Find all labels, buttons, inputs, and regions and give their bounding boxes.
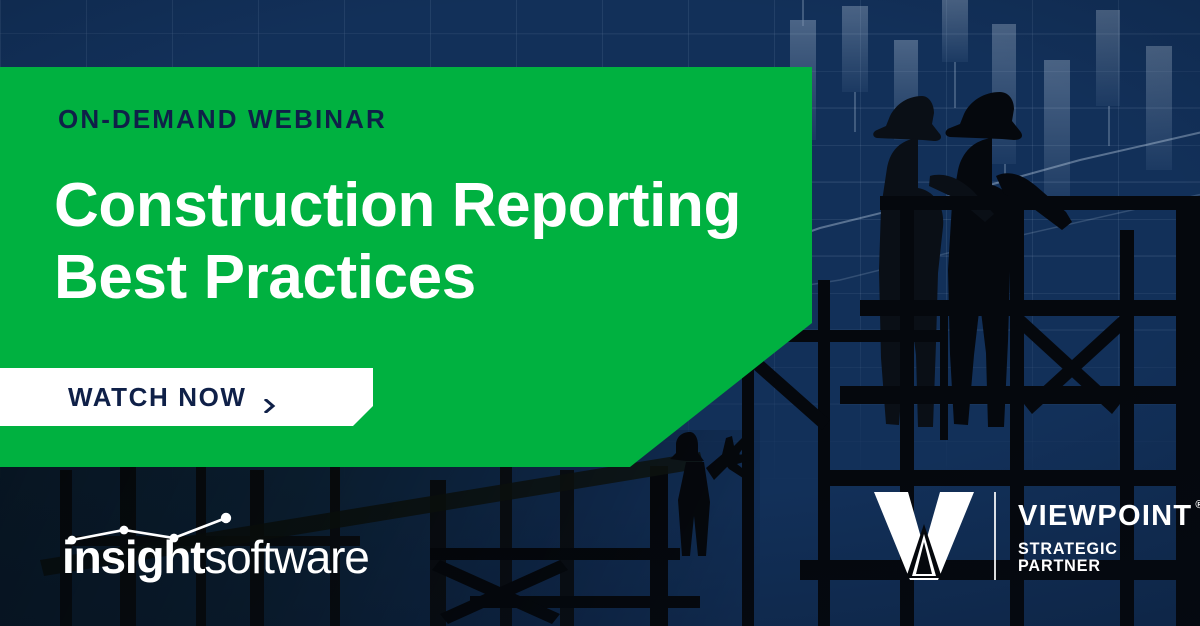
chevron-right-icon — [263, 389, 277, 403]
insightsoftware-word-light: software — [204, 531, 368, 583]
watch-now-button-label: WATCH NOW — [68, 382, 247, 413]
headline-line-1: Construction Reporting — [54, 171, 741, 240]
insightsoftware-word-bold: insight — [62, 531, 204, 583]
viewpoint-v-mark-icon — [872, 490, 976, 582]
eyebrow-label: ON-DEMAND WEBINAR — [58, 104, 387, 135]
registered-trademark-icon: ® — [1195, 500, 1200, 511]
page-title: Construction Reporting Best Practices — [54, 170, 814, 314]
watch-now-button[interactable]: WATCH NOW — [0, 368, 373, 426]
viewpoint-name-wrap: VIEWPOINT ® — [1018, 502, 1192, 531]
viewpoint-subtitle: STRATEGIC PARTNER — [1018, 540, 1184, 574]
logo-divider — [994, 492, 996, 580]
viewpoint-name: VIEWPOINT — [1018, 500, 1192, 532]
insightsoftware-wordmark: insightsoftware — [62, 534, 369, 580]
watch-now-button-label-wrap: WATCH NOW — [68, 382, 277, 413]
webinar-promo-banner: ON-DEMAND WEBINAR Construction Reporting… — [0, 0, 1200, 626]
viewpoint-text-block: VIEWPOINT ® STRATEGIC PARTNER — [1018, 502, 1192, 574]
viewpoint-strategic-partner-logo: VIEWPOINT ® STRATEGIC PARTNER — [872, 490, 1140, 582]
insightsoftware-logo: insightsoftware — [62, 512, 392, 592]
headline-line-2: Best Practices — [54, 242, 814, 314]
